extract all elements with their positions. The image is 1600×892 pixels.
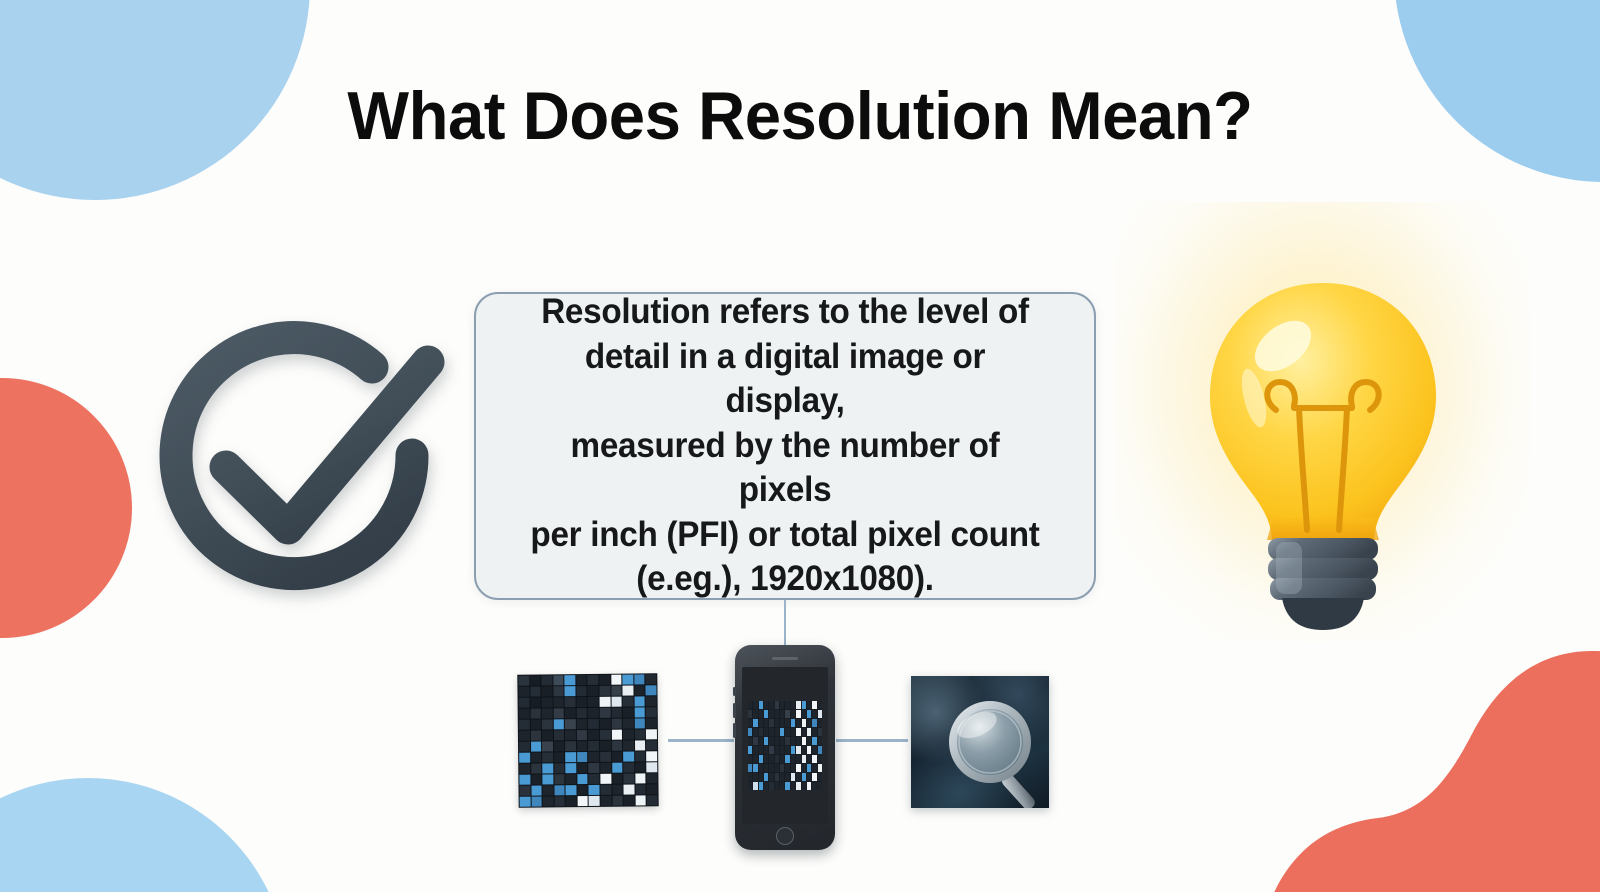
pixel-cell bbox=[780, 764, 784, 772]
check-circle-icon bbox=[140, 315, 452, 620]
pixel-cell bbox=[600, 697, 611, 707]
pixel-cell bbox=[566, 796, 577, 806]
pixel-cell bbox=[519, 775, 530, 785]
pixel-cell bbox=[647, 751, 658, 761]
pixel-cell bbox=[759, 764, 763, 772]
pixel-cell bbox=[753, 782, 757, 790]
phone-home-button bbox=[776, 827, 794, 845]
pixel-cell bbox=[791, 755, 795, 763]
pixel-cell bbox=[530, 708, 541, 718]
pixel-cell bbox=[623, 686, 634, 696]
pixel-cell bbox=[796, 773, 800, 781]
decorative-blob-coral-bottom-right bbox=[1210, 622, 1600, 892]
pixel-cell bbox=[812, 746, 816, 754]
pixel-cell bbox=[624, 774, 635, 784]
smartphone-icon bbox=[735, 645, 835, 850]
pixel-cell bbox=[807, 755, 811, 763]
magnifying-glass-photo bbox=[911, 676, 1049, 808]
pixel-cell bbox=[554, 763, 565, 773]
pixel-cell bbox=[611, 675, 622, 685]
pixel-cell bbox=[577, 785, 588, 795]
pixel-cell bbox=[818, 728, 822, 736]
pixel-cell bbox=[600, 730, 611, 740]
pixel-cell bbox=[519, 720, 530, 730]
pixel-cell bbox=[802, 773, 806, 781]
pixel-cell bbox=[541, 675, 552, 685]
pixel-cell bbox=[764, 773, 768, 781]
pixel-cell bbox=[589, 752, 600, 762]
pixel-cell bbox=[748, 719, 752, 727]
pixel-cell bbox=[753, 755, 757, 763]
pixel-cell bbox=[812, 773, 816, 781]
pixel-cell bbox=[807, 782, 811, 790]
pixel-cell bbox=[565, 708, 576, 718]
pixel-cell bbox=[775, 737, 779, 745]
pixel-cell bbox=[543, 785, 554, 795]
pixel-cell bbox=[764, 782, 768, 790]
pixel-cell bbox=[519, 742, 530, 752]
pixel-cell bbox=[802, 782, 806, 790]
pixel-cell bbox=[748, 764, 752, 772]
pixel-grid-thumbnail bbox=[517, 673, 658, 807]
pixel-cell bbox=[748, 755, 752, 763]
pixel-cell bbox=[769, 701, 773, 709]
pixel-cell bbox=[577, 708, 588, 718]
pixel-cell bbox=[753, 710, 757, 718]
pixel-cell bbox=[764, 728, 768, 736]
pixel-cell bbox=[543, 774, 554, 784]
pixel-cell bbox=[812, 719, 816, 727]
page-title: What Does Resolution Mean? bbox=[32, 82, 1568, 150]
pixel-cell bbox=[807, 737, 811, 745]
pixel-cell bbox=[818, 782, 822, 790]
pixel-cell bbox=[612, 730, 623, 740]
pixel-cell bbox=[769, 737, 773, 745]
pixel-cell bbox=[775, 719, 779, 727]
pixel-cell bbox=[759, 719, 763, 727]
pixel-cell bbox=[635, 773, 646, 783]
pixel-cell bbox=[635, 795, 646, 805]
pixel-cell bbox=[796, 755, 800, 763]
pixel-cell bbox=[807, 764, 811, 772]
pixel-cell bbox=[764, 719, 768, 727]
pixel-cell bbox=[775, 773, 779, 781]
pixel-cell bbox=[600, 686, 611, 696]
pixel-cell bbox=[807, 746, 811, 754]
pixel-cell bbox=[796, 782, 800, 790]
pixel-cell bbox=[802, 746, 806, 754]
pixel-cell bbox=[589, 785, 600, 795]
pixel-cell bbox=[588, 708, 599, 718]
pixel-cell bbox=[780, 737, 784, 745]
pixel-cell bbox=[646, 674, 657, 684]
pixel-cell bbox=[775, 728, 779, 736]
pixel-cell bbox=[769, 773, 773, 781]
pixel-cell bbox=[623, 763, 634, 773]
pixel-cell bbox=[802, 710, 806, 718]
pixel-cell bbox=[791, 701, 795, 709]
pixel-cell bbox=[646, 707, 657, 717]
pixel-cell bbox=[818, 755, 822, 763]
pixel-cell bbox=[802, 764, 806, 772]
pixel-cell bbox=[802, 701, 806, 709]
pixel-cell bbox=[530, 719, 541, 729]
pixel-cell bbox=[775, 701, 779, 709]
pixel-cell bbox=[780, 728, 784, 736]
pixel-cell bbox=[553, 686, 564, 696]
pixel-cell bbox=[748, 746, 752, 754]
pixel-cell bbox=[553, 708, 564, 718]
pixel-cell bbox=[554, 785, 565, 795]
pixel-cell bbox=[623, 719, 634, 729]
pixel-cell bbox=[588, 719, 599, 729]
pixel-cell bbox=[796, 746, 800, 754]
pixel-cell bbox=[759, 782, 763, 790]
pixel-cell bbox=[812, 710, 816, 718]
pixel-cell bbox=[791, 737, 795, 745]
pixel-cell bbox=[802, 719, 806, 727]
pixel-cell bbox=[802, 737, 806, 745]
pixel-cell bbox=[796, 710, 800, 718]
pixel-cell bbox=[577, 719, 588, 729]
pixel-cell bbox=[530, 675, 541, 685]
pixel-cell bbox=[780, 719, 784, 727]
pixel-cell bbox=[785, 701, 789, 709]
pixel-cell bbox=[634, 685, 645, 695]
pixel-cell bbox=[791, 728, 795, 736]
pixel-cell bbox=[753, 701, 757, 709]
pixel-cell bbox=[818, 773, 822, 781]
pixel-cell bbox=[785, 755, 789, 763]
pixel-cell bbox=[519, 764, 530, 774]
pixel-cell bbox=[554, 741, 565, 751]
pixel-cell bbox=[748, 782, 752, 790]
pixel-cell bbox=[588, 741, 599, 751]
pixel-cell bbox=[519, 731, 530, 741]
pixel-cell bbox=[519, 753, 530, 763]
phone-speaker bbox=[772, 657, 798, 660]
pixel-cell bbox=[565, 697, 576, 707]
pixel-cell bbox=[542, 763, 553, 773]
pixel-cell bbox=[791, 746, 795, 754]
pixel-cell bbox=[531, 752, 542, 762]
pixel-cell bbox=[611, 686, 622, 696]
pixel-cell bbox=[812, 764, 816, 772]
pixel-cell bbox=[753, 764, 757, 772]
pixel-cell bbox=[518, 687, 529, 697]
pixel-cell bbox=[769, 719, 773, 727]
pixel-cell bbox=[647, 773, 658, 783]
pixel-cell bbox=[812, 701, 816, 709]
pixel-cell bbox=[611, 697, 622, 707]
pixel-cell bbox=[553, 675, 564, 685]
pixel-cell bbox=[565, 741, 576, 751]
pixel-cell bbox=[612, 796, 623, 806]
pixel-cell bbox=[600, 774, 611, 784]
pixel-cell bbox=[589, 774, 600, 784]
pixel-cell bbox=[577, 763, 588, 773]
pixel-cell bbox=[775, 710, 779, 718]
pixel-cell bbox=[576, 686, 587, 696]
pixel-cell bbox=[599, 675, 610, 685]
pixel-cell bbox=[764, 737, 768, 745]
pixel-cell bbox=[812, 737, 816, 745]
pixel-cell bbox=[807, 701, 811, 709]
pixel-cell bbox=[530, 730, 541, 740]
pixel-cell bbox=[818, 701, 822, 709]
pixel-cell bbox=[635, 740, 646, 750]
pixel-cell bbox=[623, 752, 634, 762]
pixel-cell bbox=[785, 728, 789, 736]
pixel-cell bbox=[769, 782, 773, 790]
pixel-cell bbox=[780, 773, 784, 781]
connector-line-left bbox=[668, 739, 734, 742]
pixel-cell bbox=[759, 737, 763, 745]
pixel-cell bbox=[635, 762, 646, 772]
pixel-cell bbox=[785, 782, 789, 790]
pixel-cell bbox=[753, 737, 757, 745]
pixel-cell bbox=[785, 737, 789, 745]
pixel-cell bbox=[818, 764, 822, 772]
pixel-cell bbox=[623, 741, 634, 751]
pixel-cell bbox=[785, 746, 789, 754]
pixel-cell bbox=[566, 785, 577, 795]
pixel-cell bbox=[554, 719, 565, 729]
pixel-cell bbox=[553, 697, 564, 707]
decorative-blob-coral-left bbox=[0, 378, 132, 638]
pixel-cell bbox=[802, 728, 806, 736]
pixel-cell bbox=[769, 710, 773, 718]
pixel-cell bbox=[531, 774, 542, 784]
pixel-cell bbox=[791, 782, 795, 790]
pixel-cell bbox=[577, 796, 588, 806]
pixel-cell bbox=[812, 728, 816, 736]
pixel-cell bbox=[759, 728, 763, 736]
pixel-cell bbox=[780, 746, 784, 754]
pixel-cell bbox=[647, 762, 658, 772]
pixel-cell bbox=[807, 773, 811, 781]
pixel-cell bbox=[565, 686, 576, 696]
pixel-cell bbox=[542, 730, 553, 740]
pixel-cell bbox=[611, 719, 622, 729]
pixel-cell bbox=[796, 764, 800, 772]
pixel-cell bbox=[748, 737, 752, 745]
pixel-cell bbox=[634, 696, 645, 706]
pixel-cell bbox=[577, 730, 588, 740]
definition-card: Resolution refers to the level of detail… bbox=[474, 292, 1096, 600]
pixel-cell bbox=[647, 784, 658, 794]
pixel-cell bbox=[791, 710, 795, 718]
pixel-cell bbox=[542, 719, 553, 729]
pixel-cell bbox=[531, 763, 542, 773]
pixel-cell bbox=[543, 796, 554, 806]
pixel-cell bbox=[601, 796, 612, 806]
pixel-cell bbox=[753, 746, 757, 754]
pixel-cell bbox=[769, 764, 773, 772]
phone-volume-up-button bbox=[733, 703, 736, 718]
pixel-cell bbox=[577, 741, 588, 751]
pixel-cell bbox=[634, 707, 645, 717]
infographic-canvas: What Does Resolution Mean? Resolution re… bbox=[0, 0, 1600, 892]
pixel-cell bbox=[775, 764, 779, 772]
pixel-cell bbox=[646, 740, 657, 750]
pixel-cell bbox=[519, 709, 530, 719]
pixel-cell bbox=[601, 785, 612, 795]
pixel-cell bbox=[612, 774, 623, 784]
pixel-cell bbox=[566, 763, 577, 773]
pixel-cell bbox=[646, 696, 657, 706]
pixel-cell bbox=[611, 708, 622, 718]
pixel-cell bbox=[791, 764, 795, 772]
pixel-cell bbox=[635, 729, 646, 739]
pixel-cell bbox=[566, 774, 577, 784]
pixel-cell bbox=[531, 741, 542, 751]
pixel-cell bbox=[542, 752, 553, 762]
pixel-cell bbox=[554, 774, 565, 784]
pixel-cell bbox=[780, 782, 784, 790]
pixel-cell bbox=[577, 774, 588, 784]
pixel-cell bbox=[764, 755, 768, 763]
pixel-cell bbox=[542, 686, 553, 696]
pixel-cell bbox=[748, 710, 752, 718]
pixel-cell bbox=[759, 701, 763, 709]
pixel-cell bbox=[753, 728, 757, 736]
phone-screen bbox=[742, 667, 828, 824]
pixel-cell bbox=[796, 728, 800, 736]
pixel-cell bbox=[753, 773, 757, 781]
pixel-cell bbox=[612, 785, 623, 795]
pixel-cell bbox=[759, 746, 763, 754]
pixel-cell bbox=[623, 708, 634, 718]
pixel-cell bbox=[612, 752, 623, 762]
pixel-cell bbox=[600, 763, 611, 773]
pixel-cell bbox=[542, 741, 553, 751]
pixel-cell bbox=[519, 698, 530, 708]
pixel-cell bbox=[531, 796, 542, 806]
pixel-cell bbox=[520, 797, 531, 807]
pixel-cell bbox=[818, 746, 822, 754]
pixel-cell bbox=[785, 710, 789, 718]
pixel-cell bbox=[764, 701, 768, 709]
pixel-cell bbox=[542, 697, 553, 707]
pixel-cell bbox=[759, 710, 763, 718]
pixel-cell bbox=[612, 763, 623, 773]
pixel-cell bbox=[589, 763, 600, 773]
pixel-cell bbox=[785, 719, 789, 727]
pixel-cell bbox=[589, 796, 600, 806]
pixel-cell bbox=[554, 730, 565, 740]
pixel-cell bbox=[775, 755, 779, 763]
pixel-cell bbox=[519, 786, 530, 796]
pixel-cell bbox=[646, 718, 657, 728]
phone-mute-switch bbox=[733, 687, 736, 696]
pixel-cell bbox=[748, 773, 752, 781]
connector-line-right bbox=[836, 739, 908, 742]
pixel-cell bbox=[624, 796, 635, 806]
pixel-cell bbox=[600, 719, 611, 729]
pixel-cell bbox=[769, 728, 773, 736]
pixel-cell bbox=[565, 719, 576, 729]
pixel-cell bbox=[565, 752, 576, 762]
pixel-cell bbox=[807, 710, 811, 718]
pixel-cell bbox=[748, 701, 752, 709]
pixel-cell bbox=[818, 737, 822, 745]
pixel-cell bbox=[812, 782, 816, 790]
phone-volume-down-button bbox=[733, 723, 736, 738]
pixel-cell bbox=[764, 710, 768, 718]
pixel-cell bbox=[796, 737, 800, 745]
pixel-cell bbox=[588, 675, 599, 685]
pixel-cell bbox=[780, 710, 784, 718]
pixel-cell bbox=[588, 730, 599, 740]
pixel-cell bbox=[623, 730, 634, 740]
pixel-cell bbox=[764, 764, 768, 772]
pixel-cell bbox=[775, 746, 779, 754]
pixel-cell bbox=[542, 708, 553, 718]
pixel-cell bbox=[530, 697, 541, 707]
pixel-cell bbox=[780, 755, 784, 763]
pixel-cell bbox=[791, 773, 795, 781]
pixel-cell bbox=[565, 675, 576, 685]
pixel-cell bbox=[785, 773, 789, 781]
decorative-blob-blue-bottom-left bbox=[0, 778, 288, 892]
pixel-cell bbox=[588, 697, 599, 707]
pixel-cell bbox=[600, 741, 611, 751]
phone-screen-pixel-mosaic bbox=[748, 701, 822, 790]
pixel-cell bbox=[531, 785, 542, 795]
pixel-cell bbox=[576, 697, 587, 707]
pixel-cell bbox=[623, 697, 634, 707]
pixel-cell bbox=[577, 752, 588, 762]
pixel-cell bbox=[748, 728, 752, 736]
definition-text: Resolution refers to the level of detail… bbox=[529, 290, 1042, 601]
pixel-cell bbox=[635, 718, 646, 728]
pixel-cell bbox=[807, 728, 811, 736]
pixel-cell bbox=[769, 746, 773, 754]
pixel-cell bbox=[623, 675, 634, 685]
pixel-cell bbox=[759, 773, 763, 781]
pixel-cell bbox=[759, 755, 763, 763]
pixel-cell bbox=[646, 685, 657, 695]
pixel-cell bbox=[802, 755, 806, 763]
pixel-cell bbox=[646, 729, 657, 739]
pixel-cell bbox=[818, 719, 822, 727]
pixel-cell bbox=[600, 752, 611, 762]
pixel-cell bbox=[518, 676, 529, 686]
pixel-cell bbox=[634, 674, 645, 684]
pixel-cell bbox=[780, 701, 784, 709]
pixel-cell bbox=[796, 701, 800, 709]
pixel-cell bbox=[600, 708, 611, 718]
pixel-cell bbox=[812, 755, 816, 763]
pixel-cell bbox=[796, 719, 800, 727]
pixel-cell bbox=[635, 751, 646, 761]
pixel-cell bbox=[791, 719, 795, 727]
pixel-cell bbox=[565, 730, 576, 740]
pixel-cell bbox=[530, 686, 541, 696]
pixel-cell bbox=[769, 755, 773, 763]
pixel-cell bbox=[576, 675, 587, 685]
pixel-cell bbox=[554, 752, 565, 762]
pixel-cell bbox=[588, 686, 599, 696]
pixel-cell bbox=[753, 719, 757, 727]
pixel-cell bbox=[635, 784, 646, 794]
lightbulb-icon bbox=[1158, 228, 1488, 638]
pixel-cell bbox=[612, 741, 623, 751]
pixel-cell bbox=[818, 710, 822, 718]
pixel-cell bbox=[785, 764, 789, 772]
pixel-cell bbox=[775, 782, 779, 790]
